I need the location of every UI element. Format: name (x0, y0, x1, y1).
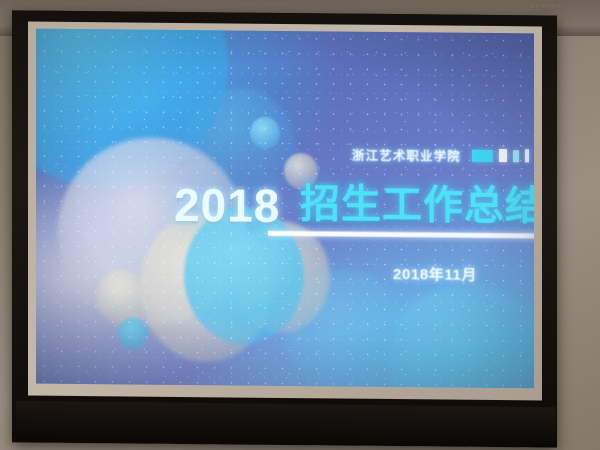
slide-title: 招生工作总结分析 (300, 171, 534, 232)
decor-block-thin-white (525, 149, 529, 162)
decor-block-light-cyan (513, 150, 519, 162)
slide-year: 2018 (174, 178, 280, 233)
screen-case-bottom (16, 401, 556, 448)
organization-name: 浙江艺术职业学院 (352, 145, 461, 165)
ceiling-brand-text: Realwear (530, 3, 564, 10)
projected-slide: 2018 浙江艺术职业学院 招生工作总结分析 2018年11月 (36, 29, 534, 389)
ceiling-marker-dot (500, 8, 503, 11)
decor-block-white (499, 149, 507, 162)
decorative-blocks (472, 149, 529, 163)
projector-photo: Realwear 2018 浙江艺术职业学院 招生工作总结分析 (0, 0, 600, 450)
organization-row: 浙江艺术职业学院 (352, 145, 529, 166)
decor-block-wide-cyan (472, 149, 493, 161)
slide-date: 2018年11月 (393, 263, 477, 285)
